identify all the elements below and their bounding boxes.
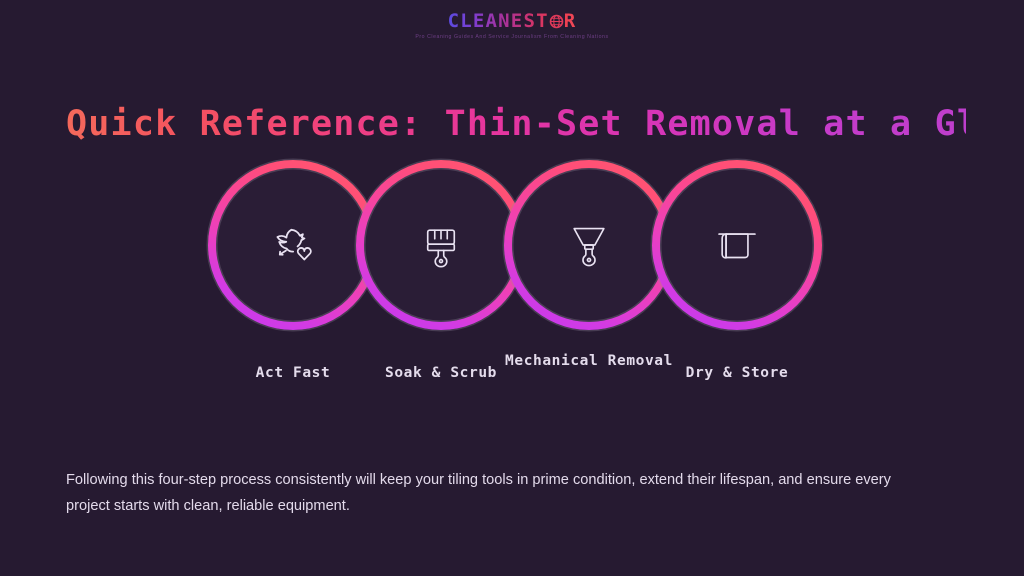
brand-header: CLEANESTR Pro Cleaning Guides And Servic… <box>0 10 1024 41</box>
putty-knife-icon <box>512 168 666 322</box>
page-title: Quick Reference: Thin-Set Removal at a G… <box>66 101 966 147</box>
step-circle-4 <box>652 160 822 330</box>
towel-on-rail-icon <box>660 168 814 322</box>
step-circle-1 <box>208 160 378 330</box>
paint-brush-icon <box>364 168 518 322</box>
step-circle-3 <box>504 160 674 330</box>
brand-logo[interactable]: CLEANESTR <box>448 10 577 32</box>
brand-tagline: Pro Cleaning Guides And Service Journali… <box>0 33 1024 41</box>
brand-name-part-1: CLEANEST <box>448 10 549 32</box>
process-steps: Act Fast Soak & Scrub <box>0 160 1024 410</box>
process-step-dry-and-store[interactable]: Dry & Store <box>652 160 822 410</box>
globe-icon <box>549 14 564 29</box>
brand-name-part-2: R <box>564 10 577 32</box>
dove-with-heart-icon <box>216 168 370 322</box>
summary-paragraph: Following this four-step process consist… <box>66 467 928 519</box>
step-circle-2 <box>356 160 526 330</box>
step-label: Dry & Store <box>637 360 837 386</box>
